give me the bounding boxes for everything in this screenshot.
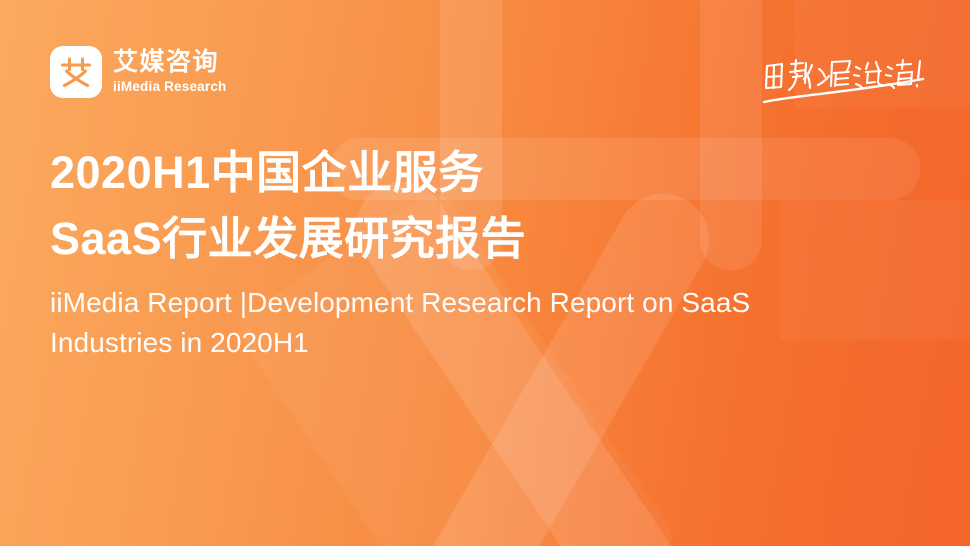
report-title: 2020H1中国企业服务 SaaS行业发展研究报告 (50, 140, 930, 272)
subtitle-line-1: iiMedia Report |Development Research Rep… (50, 283, 930, 323)
title-line-1: 2020H1中国企业服务 (50, 140, 930, 206)
report-cover-slide: 艾媒咨询 iiMedia Research (0, 0, 970, 546)
logo-name-en: iiMedia Research (113, 80, 227, 94)
logo-name-cn: 艾媒咨询 (113, 50, 227, 75)
report-subtitle: iiMedia Report |Development Research Rep… (50, 283, 930, 363)
handwritten-slogan-icon (760, 52, 928, 108)
logo-wordmark: 艾媒咨询 iiMedia Research (113, 50, 227, 94)
title-line-2: SaaS行业发展研究报告 (50, 206, 930, 272)
iimedia-logo: 艾媒咨询 iiMedia Research (50, 46, 227, 98)
subtitle-line-2: Industries in 2020H1 (50, 323, 930, 363)
iimedia-ai-glyph-icon (50, 46, 102, 98)
